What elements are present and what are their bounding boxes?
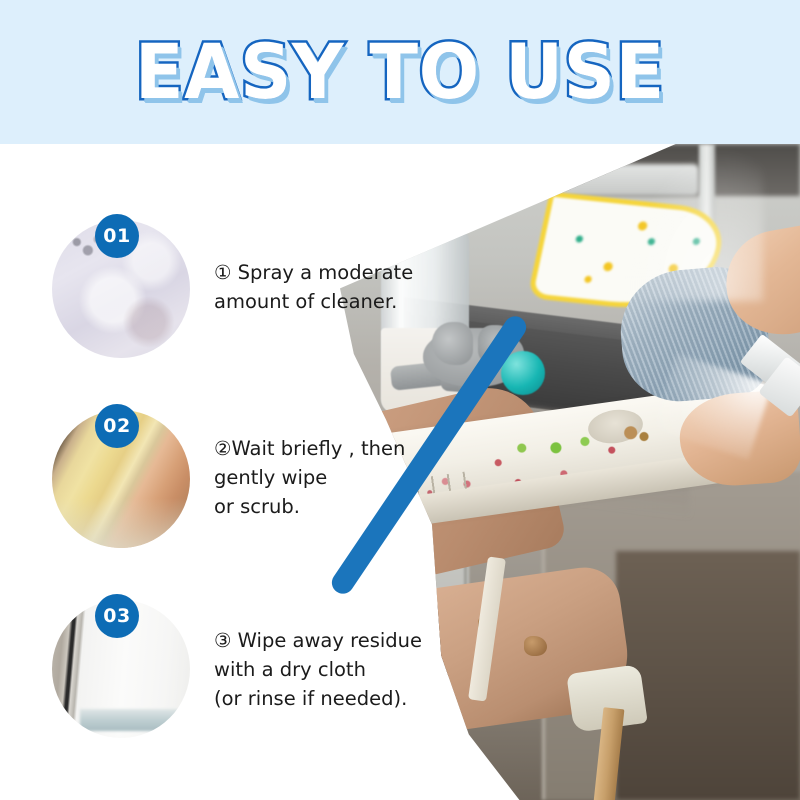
baby-bottle-nipple <box>411 170 434 203</box>
step-2-text: ②Wait briefly , then gently wipe or scru… <box>214 434 440 521</box>
step-3-text: ③ Wipe away residue with a dry cloth (or… <box>214 626 440 713</box>
header-band: EASY TO USE <box>0 0 800 144</box>
spray-mist-upper <box>625 144 763 301</box>
baby-bottle-neck <box>400 193 446 239</box>
step-1-badge: 01 <box>95 214 139 258</box>
plush-elephant-ear <box>432 322 473 365</box>
wall-panel-lower <box>616 551 800 800</box>
step-3-badge: 03 <box>95 594 139 638</box>
step-1-text: ① Spray a moderate amount of cleaner. <box>214 258 440 316</box>
step-2-badge: 02 <box>95 404 139 448</box>
page-title: EASY TO USE <box>0 26 800 118</box>
food-crumb <box>524 636 547 656</box>
page-title-text: EASY TO USE <box>135 26 665 118</box>
poster-canvas: EASY TO USE <box>0 0 800 800</box>
